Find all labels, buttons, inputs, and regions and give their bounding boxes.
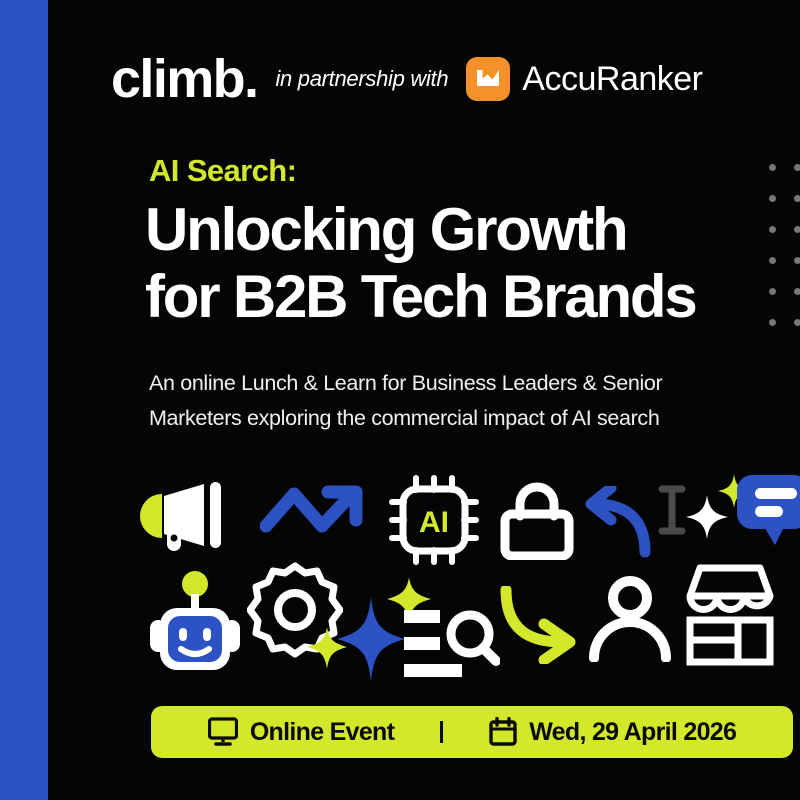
page-title: Unlocking Growth for B2B Tech Brands xyxy=(145,196,765,330)
partnership-text: in partnership with xyxy=(275,66,448,92)
grid-dot xyxy=(794,164,800,171)
chat-bubble-icon xyxy=(733,473,800,554)
climb-wordmark: climb. xyxy=(111,52,257,106)
banner-divider xyxy=(440,721,443,743)
subheading-line-1: An online Lunch & Learn for Business Lea… xyxy=(149,366,749,401)
poster-canvas: climb. in partnership with AccuRanker AI… xyxy=(48,0,800,800)
grid-dot xyxy=(794,257,800,264)
event-date-label: Wed, 29 April 2026 xyxy=(529,718,736,747)
event-format-label: Online Event xyxy=(250,718,394,747)
grid-dot xyxy=(769,257,776,264)
icon-collage: AI xyxy=(134,466,784,681)
arrow-curve-right-icon xyxy=(500,586,582,669)
grid-dot xyxy=(769,164,776,171)
event-details-banner: Online Event Wed, 29 April 2026 xyxy=(151,706,793,758)
search-results-icon xyxy=(404,604,500,689)
headline-line-2: for B2B Tech Brands xyxy=(145,263,765,330)
event-date-cell: Wed, 29 April 2026 xyxy=(489,717,736,747)
grid-dot xyxy=(769,288,776,295)
calendar-icon xyxy=(489,717,517,747)
event-format-cell: Online Event xyxy=(208,717,394,747)
grid-dot xyxy=(769,226,776,233)
accuranker-wordmark: AccuRanker xyxy=(522,60,702,99)
storefront-icon xyxy=(676,562,784,671)
ai-chip-icon: AI xyxy=(388,474,480,571)
brand-header: climb. in partnership with AccuRanker xyxy=(111,48,771,110)
grid-dot xyxy=(769,195,776,202)
subheading-line-2: Marketers exploring the commercial impac… xyxy=(149,401,749,436)
arrow-curve-left-icon xyxy=(583,486,659,563)
robot-icon xyxy=(148,570,242,681)
headline-line-1: Unlocking Growth xyxy=(145,196,765,263)
grid-dot xyxy=(769,319,776,326)
grid-dot xyxy=(794,226,800,233)
grid-dot xyxy=(794,288,800,295)
accuranker-logo-icon xyxy=(466,57,510,101)
subheading: An online Lunch & Learn for Business Lea… xyxy=(149,366,749,436)
trending-up-arrow-icon xyxy=(260,482,374,549)
accuranker-lockup: AccuRanker xyxy=(466,57,702,101)
text-cursor-icon xyxy=(657,484,687,541)
eyebrow-label: AI Search: xyxy=(149,155,296,186)
person-icon xyxy=(588,576,672,667)
grid-dot xyxy=(794,195,800,202)
lock-icon xyxy=(498,482,576,565)
promo-poster: climb. in partnership with AccuRanker AI… xyxy=(0,0,800,800)
monitor-icon xyxy=(208,717,238,747)
dot-grid-decoration xyxy=(760,152,800,338)
grid-dot xyxy=(794,319,800,326)
left-accent-stripe xyxy=(0,0,48,800)
svg-text:AI: AI xyxy=(419,506,449,539)
megaphone-icon xyxy=(134,480,226,557)
